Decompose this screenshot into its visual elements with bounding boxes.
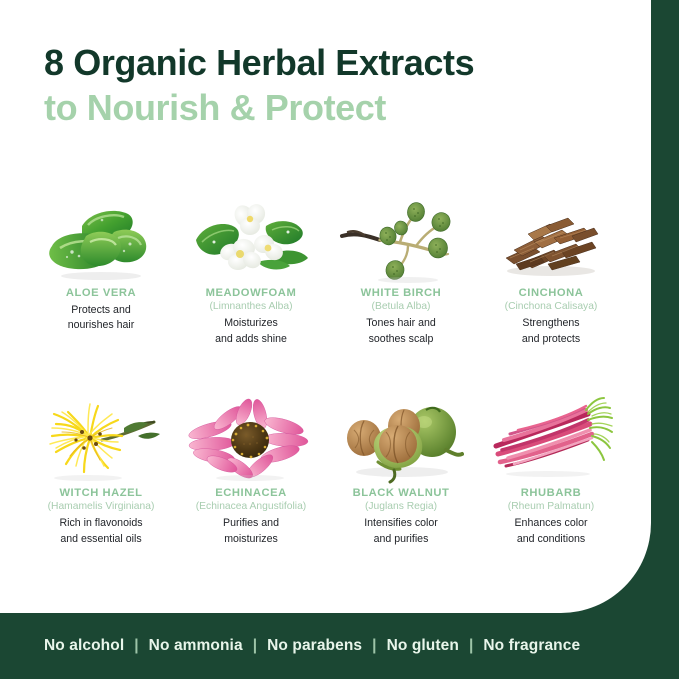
ingredient-grid: ALOE VERA Protects and nourishes hair <box>26 192 626 592</box>
ingredient-description: Rich in flavonoids and essential oils <box>59 516 142 547</box>
ingredient-latin-name: (Limnanthes Alba) <box>210 300 293 313</box>
ingredient-name: ALOE VERA <box>66 286 136 300</box>
ingredient-description: Strengthens and protects <box>522 316 580 347</box>
ingredient-card-aloe-vera: ALOE VERA Protects and nourishes hair <box>26 192 176 392</box>
claim-no-parabens: No parabens <box>267 637 362 655</box>
ingredient-latin-name: (Echinacea Angustifolia) <box>196 500 306 513</box>
claim-separator: | <box>134 637 138 655</box>
black-walnut-nuts-icon <box>338 392 464 484</box>
ingredient-latin-name: (Juglans Regia) <box>365 500 437 513</box>
ingredient-description: Purifies and moisturizes <box>223 516 279 547</box>
claim-no-gluten: No gluten <box>387 637 459 655</box>
ingredient-name: MEADOWFOAM <box>206 286 297 300</box>
echinacea-pink-flower-icon <box>188 392 314 484</box>
claim-no-ammonia: No ammonia <box>149 637 243 655</box>
white-birch-catkin-branch-icon <box>338 192 464 284</box>
ingredient-description: Intensifies color and purifies <box>364 516 438 547</box>
ingredient-card-black-walnut: BLACK WALNUT (Juglans Regia) Intensifies… <box>326 392 476 592</box>
infographic-page: 8 Organic Herbal Extracts to Nourish & P… <box>0 0 679 679</box>
ingredient-latin-name: (Hamamelis Virginiana) <box>48 500 155 513</box>
ingredient-description: Moisturizes and adds shine <box>215 316 287 347</box>
ingredient-card-rhubarb: RHUBARB (Rheum Palmatun) Enhances color … <box>476 392 626 592</box>
claims-list: No alcohol | No ammonia | No parabens | … <box>44 637 580 655</box>
ingredient-name: BLACK WALNUT <box>353 486 450 500</box>
ingredient-description: Tones hair and soothes scalp <box>366 316 436 347</box>
ingredient-card-cinchona: CINCHONA (Cinchona Calisaya) Strengthens… <box>476 192 626 392</box>
claim-no-fragrance: No fragrance <box>483 637 580 655</box>
ingredient-latin-name: (Rheum Palmatun) <box>508 500 594 513</box>
claim-separator: | <box>469 637 473 655</box>
ingredient-name: WITCH HAZEL <box>59 486 142 500</box>
aloe-vera-leaves-icon <box>38 192 164 284</box>
ingredient-name: CINCHONA <box>519 286 584 300</box>
ingredient-card-meadowfoam: MEADOWFOAM (Limnanthes Alba) Moisturizes… <box>176 192 326 392</box>
rhubarb-pink-stalks-icon <box>488 392 614 484</box>
meadowfoam-white-flower-icon <box>188 192 314 284</box>
claim-no-alcohol: No alcohol <box>44 637 124 655</box>
page-header: 8 Organic Herbal Extracts to Nourish & P… <box>44 42 624 129</box>
claim-separator: | <box>253 637 257 655</box>
ingredient-name: WHITE BIRCH <box>361 286 442 300</box>
ingredient-description: Protects and nourishes hair <box>68 303 135 334</box>
page-title-secondary: to Nourish & Protect <box>44 87 624 128</box>
page-title-primary: 8 Organic Herbal Extracts <box>44 42 624 83</box>
claim-separator: | <box>372 637 376 655</box>
ingredient-latin-name: (Cinchona Calisaya) <box>505 300 598 313</box>
ingredient-name: ECHINACEA <box>215 486 286 500</box>
witch-hazel-yellow-flower-icon <box>38 392 164 484</box>
ingredient-latin-name: (Betula Alba) <box>372 300 431 313</box>
cinchona-bark-chips-icon <box>488 192 614 284</box>
ingredient-card-white-birch: WHITE BIRCH (Betula Alba) Tones hair and… <box>326 192 476 392</box>
ingredient-description: Enhances color and conditions <box>514 516 587 547</box>
ingredient-name: RHUBARB <box>521 486 581 500</box>
claims-footer: No alcohol | No ammonia | No parabens | … <box>0 613 679 679</box>
ingredient-card-echinacea: ECHINACEA (Echinacea Angustifolia) Purif… <box>176 392 326 592</box>
ingredient-card-witch-hazel: WITCH HAZEL (Hamamelis Virginiana) Rich … <box>26 392 176 592</box>
